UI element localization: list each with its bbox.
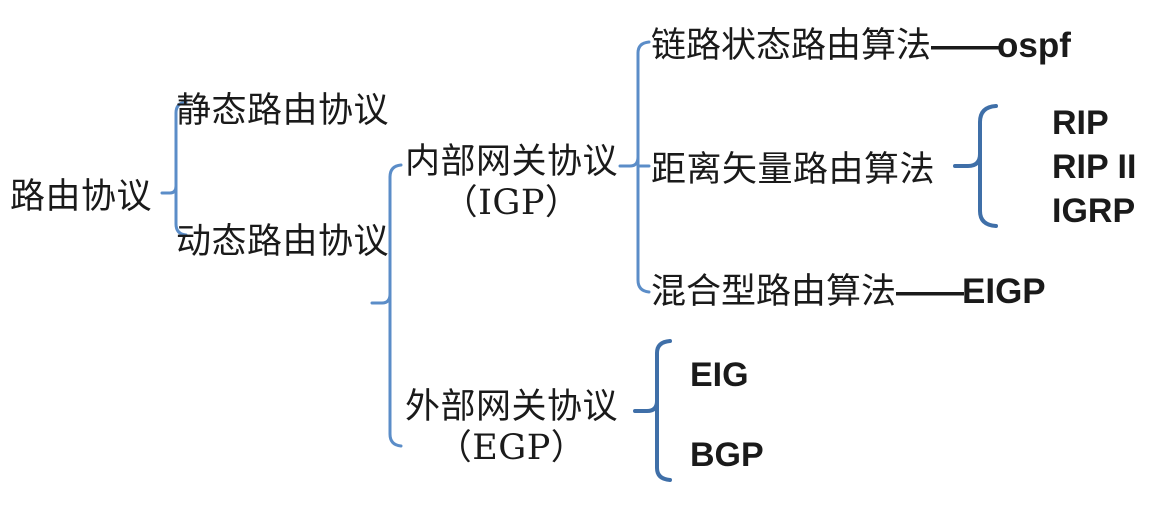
node-hybrid-algorithm: 混合型路由算法——EIGP <box>651 263 1046 314</box>
bracket-egp-to-protocols <box>635 341 670 480</box>
node-protocol-eig: EIG <box>690 356 749 395</box>
node-hybrid-label: 混合型路由算法 <box>651 272 896 312</box>
node-root: 路由协议 <box>10 168 152 219</box>
node-interior-gateway-protocol: 内部网关协议 （IGP） <box>405 142 618 225</box>
node-egp-line1: 外部网关协议 <box>405 387 618 428</box>
node-egp-line2: （EGP） <box>405 428 618 469</box>
node-distance-vector-algorithm: 距离矢量路由算法 <box>651 141 935 192</box>
node-protocol-rip: RIP <box>1052 104 1109 143</box>
node-static-routing-protocol: 静态路由协议 <box>176 82 389 133</box>
node-igp-line1: 内部网关协议 <box>405 142 618 183</box>
node-link-state-algorithm: 链路状态路由算法——ospf <box>651 17 1071 68</box>
bracket-igp-to-algorithms <box>620 42 649 292</box>
bracket-distance-vector-to-protocols <box>955 106 996 226</box>
connector-dash-ospf: —— <box>931 26 997 65</box>
node-protocol-igrp: IGRP <box>1052 192 1135 231</box>
node-igp-line2: （IGP） <box>405 183 618 224</box>
node-dynamic-routing-protocol: 动态路由协议 <box>176 213 389 264</box>
bracket-dynamic-to-gateway <box>372 165 401 446</box>
diagram-canvas: 路由协议 静态路由协议 动态路由协议 内部网关协议 （IGP） 外部网关协议 （… <box>0 0 1172 506</box>
node-protocol-ospf: ospf <box>997 26 1071 65</box>
node-link-state-label: 链路状态路由算法 <box>651 26 931 66</box>
node-exterior-gateway-protocol: 外部网关协议 （EGP） <box>405 387 618 470</box>
connector-dash-eigp: —— <box>896 272 962 311</box>
node-protocol-bgp: BGP <box>690 436 764 475</box>
node-protocol-eigp: EIGP <box>962 272 1046 311</box>
node-protocol-rip-ii: RIP II <box>1052 148 1136 187</box>
